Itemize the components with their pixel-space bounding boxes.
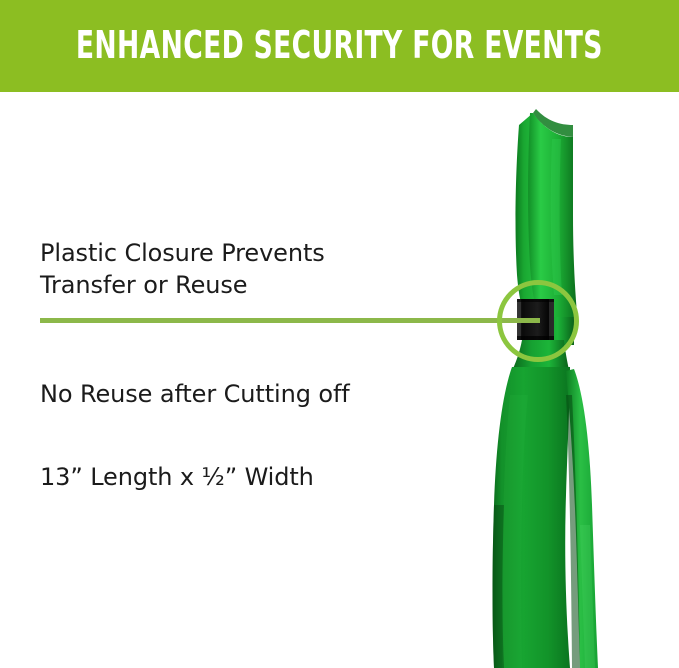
feature-no-reuse: No Reuse after Cutting off: [40, 379, 350, 411]
ribbon-body-left-shadow: [493, 505, 505, 668]
header-banner: ENHANCED SECURITY FOR EVENTS: [0, 0, 679, 92]
wristband-illustration: [470, 95, 640, 668]
product-infographic: ENHANCED SECURITY FOR EVENTS: [0, 0, 679, 668]
feature-dimensions: 13” Length x ½” Width: [40, 462, 314, 494]
callout-leader-line: [40, 318, 540, 323]
feature-plastic-closure: Plastic Closure Prevents Transfer or Reu…: [40, 238, 325, 302]
page-title: ENHANCED SECURITY FOR EVENTS: [76, 26, 603, 67]
callout-circle-plastic-closure: [497, 280, 579, 362]
product-image-wristband: [470, 95, 640, 668]
